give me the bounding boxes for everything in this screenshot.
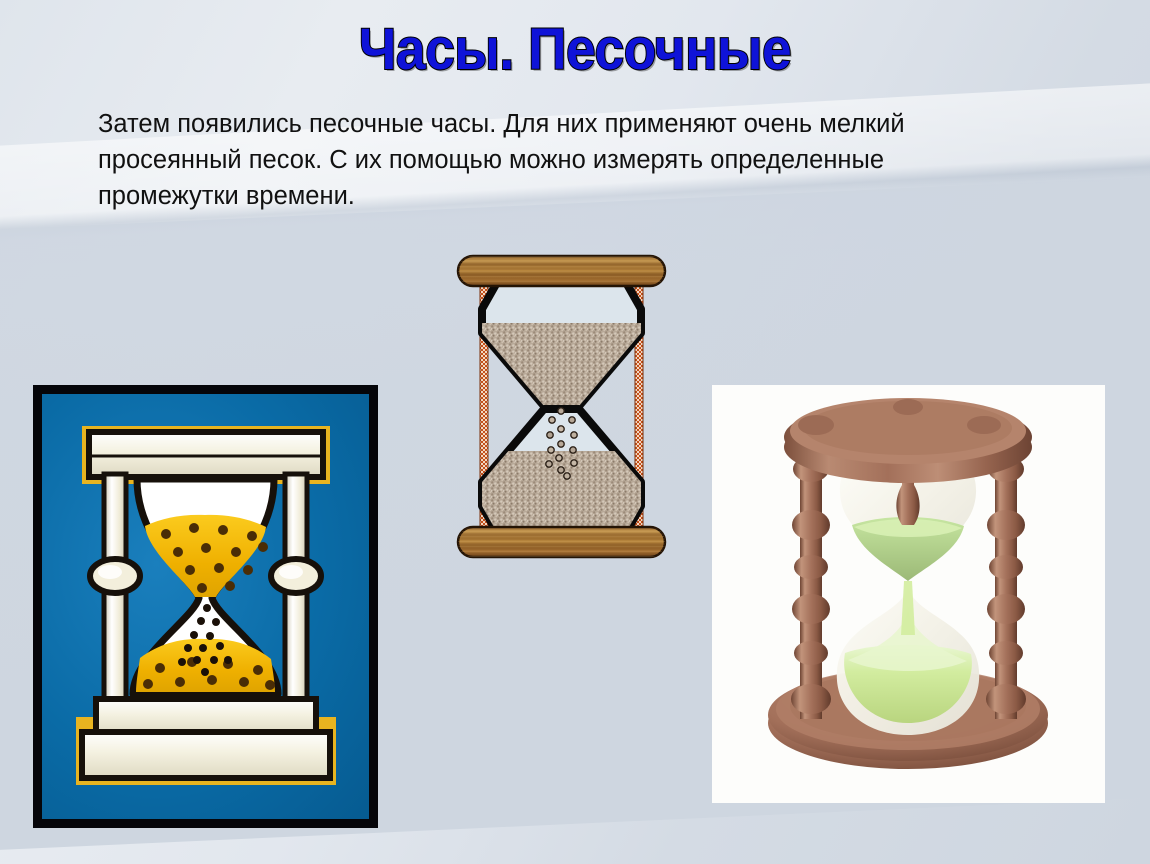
slide-canvas: Часы. Песочные Затем появились песочные … xyxy=(0,0,1150,864)
photo-hourglass-cap-knob-left xyxy=(798,415,834,435)
page-title: Часы. Песочные xyxy=(46,16,1104,83)
clipart-hourglass-graphic xyxy=(42,394,369,819)
wooden-hourglass-image xyxy=(455,253,668,561)
photo-hourglass-cap-knob-right xyxy=(967,416,1001,434)
photo-hourglass-cap-knob-center xyxy=(893,399,923,415)
clipart-hourglass-image xyxy=(33,385,378,828)
clipart-background xyxy=(42,394,369,819)
photo-hourglass-image xyxy=(712,385,1105,803)
wooden-hourglass-graphic xyxy=(455,253,668,561)
photo-hourglass-graphic xyxy=(712,385,1105,803)
body-paragraph: Затем появились песочные часы. Для них п… xyxy=(98,106,988,214)
